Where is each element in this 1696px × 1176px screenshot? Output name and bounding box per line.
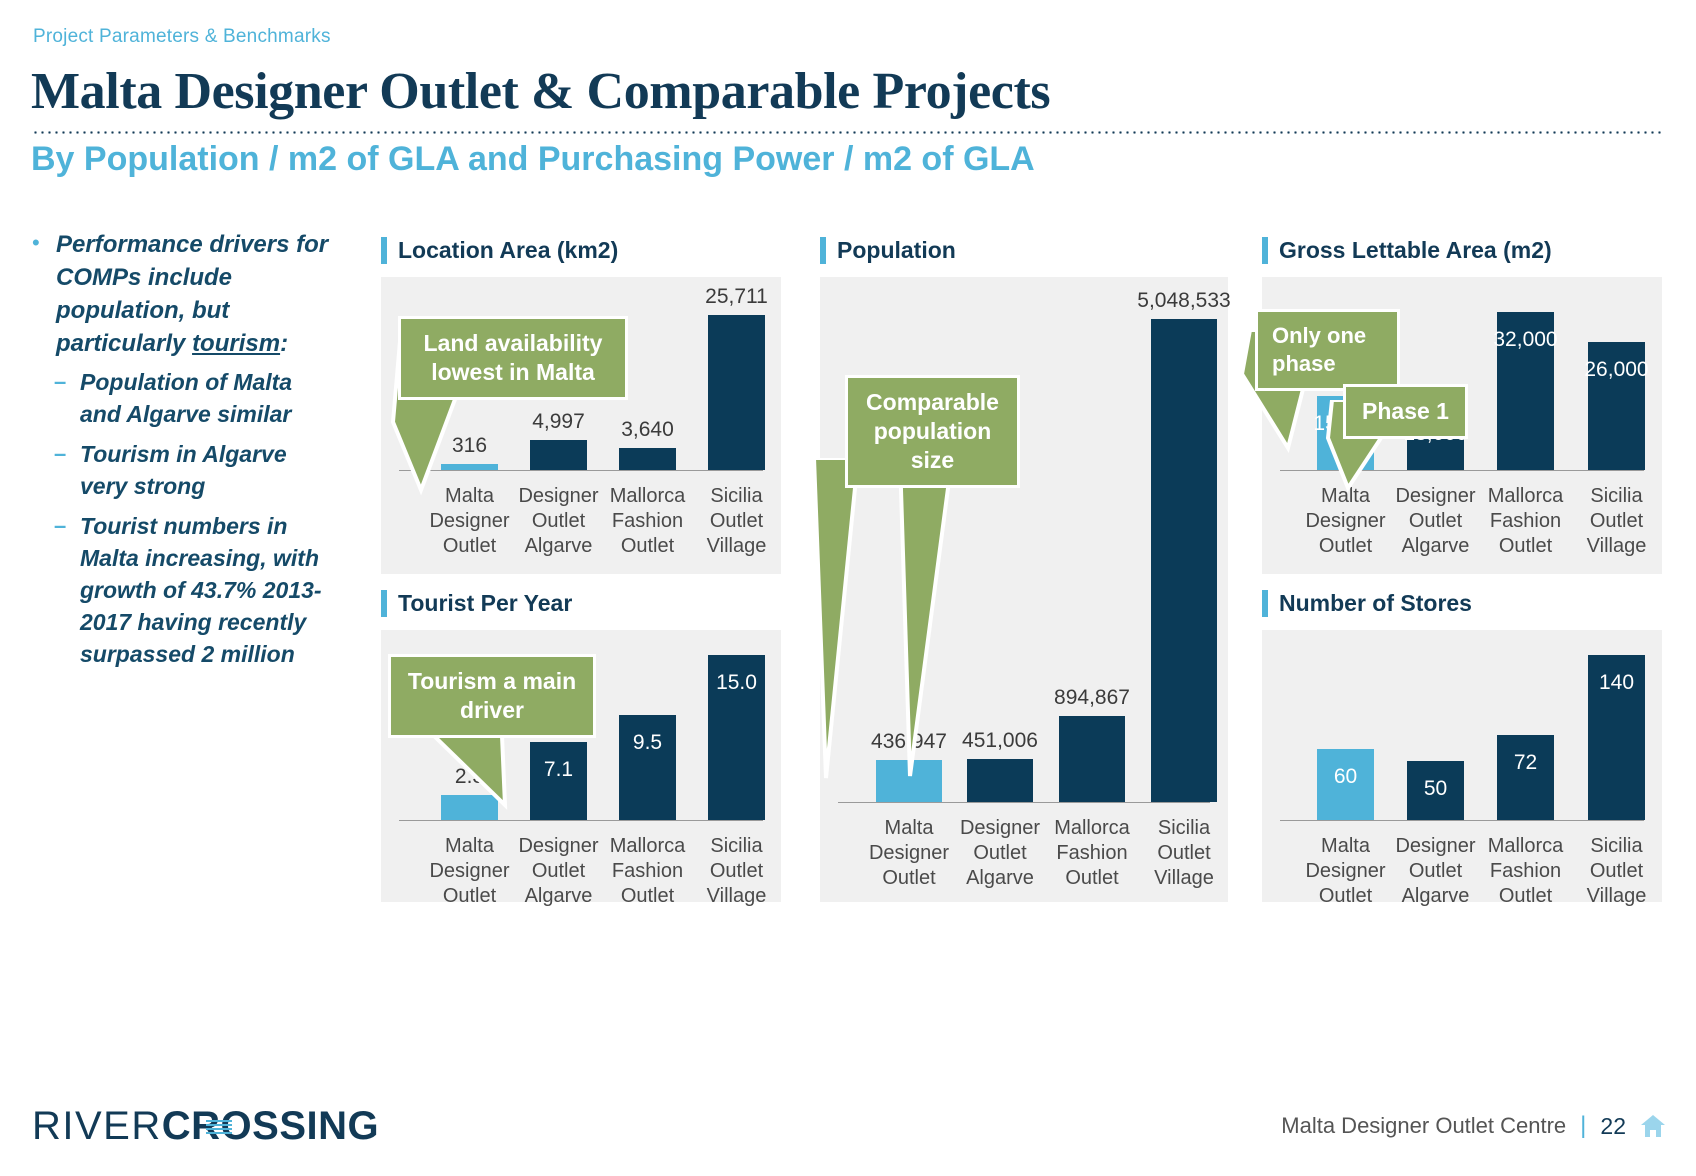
sub-bullet-text: Tourist numbers in Malta increasing, wit… xyxy=(80,510,332,670)
category-label-line: Sicilia xyxy=(686,484,787,509)
bar-value-label: 32,000 xyxy=(1483,328,1568,352)
category-label-line: Outlet xyxy=(1385,509,1486,534)
category-label-line: Outlet xyxy=(419,884,520,909)
accent-bar-icon xyxy=(1262,237,1268,264)
category-label-line: Village xyxy=(686,534,787,559)
chart-title: Tourist Per Year xyxy=(398,590,572,617)
category-label-line: Outlet xyxy=(597,534,698,559)
category-label-line: Designer xyxy=(1295,509,1396,534)
category-label-line: Malta xyxy=(419,834,520,859)
list-item: – Population of Malta and Algarve simila… xyxy=(54,366,332,430)
bar-value-label: 50 xyxy=(1393,777,1478,801)
category-label-line: Designer xyxy=(1385,834,1486,859)
category-label-line: Algarve xyxy=(508,534,609,559)
category-label: SiciliaOutletVillage xyxy=(686,484,787,559)
category-label-line: Designer xyxy=(508,834,609,859)
callout-tail-population xyxy=(800,458,1100,808)
dash-icon: – xyxy=(54,438,80,502)
category-label-line: Outlet xyxy=(1566,859,1667,884)
page-subtitle: By Population / m2 of GLA and Purchasing… xyxy=(31,140,1035,179)
category-label-line: Sicilia xyxy=(1566,484,1667,509)
category-label-line: Algarve xyxy=(1385,884,1486,909)
category-label: MallorcaFashionOutlet xyxy=(1475,484,1576,559)
category-label-line: Sicilia xyxy=(1566,834,1667,859)
category-label-line: Village xyxy=(1566,534,1667,559)
category-label-line: Designer xyxy=(419,859,520,884)
category-label-line: Mallorca xyxy=(1475,834,1576,859)
chart-header: Location Area (km2) xyxy=(381,235,781,265)
bar-value-label: 140 xyxy=(1574,671,1659,695)
category-label: MallorcaFashionOutlet xyxy=(597,834,698,909)
category-label-line: Algarve xyxy=(508,884,609,909)
footer-separator: | xyxy=(1580,1112,1586,1140)
category-label-line: Malta xyxy=(1295,834,1396,859)
chart-header: Tourist Per Year xyxy=(381,588,781,618)
chart-title: Location Area (km2) xyxy=(398,237,618,264)
category-label-line: Designer xyxy=(1295,859,1396,884)
category-label: MaltaDesignerOutlet xyxy=(419,834,520,909)
eyebrow-text: Project Parameters & Benchmarks xyxy=(33,26,331,48)
bar-value-label: 60 xyxy=(1303,765,1388,789)
category-label-line: Outlet xyxy=(686,509,787,534)
category-label: SiciliaOutletVillage xyxy=(1566,484,1667,559)
category-label-line: Outlet xyxy=(508,859,609,884)
category-label-line: Fashion xyxy=(597,859,698,884)
slide-root: Project Parameters & Benchmarks Malta De… xyxy=(0,0,1696,1176)
logo-crossing-text: CROSSING xyxy=(162,1104,379,1149)
chart-header: Number of Stores xyxy=(1262,588,1662,618)
bar xyxy=(1497,735,1554,820)
logo-crossing-label: CROSSING xyxy=(162,1104,379,1148)
category-label-line: Village xyxy=(686,884,787,909)
category-label-line: Village xyxy=(1129,866,1239,891)
accent-bar-icon xyxy=(381,590,387,617)
category-label: DesignerOutletAlgarve xyxy=(508,834,609,909)
category-label-line: Outlet xyxy=(1295,534,1396,559)
x-axis-line xyxy=(1280,820,1644,821)
category-label-line: Algarve xyxy=(1385,534,1486,559)
bar xyxy=(708,315,765,470)
category-label-line: Outlet xyxy=(597,884,698,909)
category-label-line: Outlet xyxy=(1385,859,1486,884)
chart-header: Population xyxy=(820,235,1228,265)
accent-bar-icon xyxy=(1262,590,1268,617)
home-icon[interactable] xyxy=(1640,1114,1666,1138)
chart-header: Gross Lettable Area (m2) xyxy=(1262,235,1662,265)
sidebar-notes: • Performance drivers for COMPs include … xyxy=(32,228,332,678)
category-label-line: Outlet xyxy=(1566,509,1667,534)
list-item: – Tourism in Algarve very strong xyxy=(54,438,332,502)
category-label: SiciliaOutletVillage xyxy=(1566,834,1667,909)
plot-area: 60MaltaDesignerOutlet50DesignerOutletAlg… xyxy=(1262,630,1662,902)
category-label-line: Fashion xyxy=(1475,509,1576,534)
category-label: SiciliaOutletVillage xyxy=(1129,816,1239,891)
accent-bar-icon xyxy=(381,237,387,264)
category-label-line: Outlet xyxy=(1295,884,1396,909)
sub-bullet-text: Tourism in Algarve very strong xyxy=(80,438,332,502)
footer-doc-name: Malta Designer Outlet Centre xyxy=(1281,1113,1566,1139)
category-label-line: Fashion xyxy=(597,509,698,534)
dash-icon: – xyxy=(54,366,80,430)
category-label: MallorcaFashionOutlet xyxy=(1475,834,1576,909)
list-item: – Tourist numbers in Malta increasing, w… xyxy=(54,510,332,670)
logo-river-text: RIVER xyxy=(32,1104,162,1149)
accent-bar-icon xyxy=(820,237,826,264)
callout-land-availability: Land availability lowest in Malta xyxy=(398,316,628,400)
callout-phase-1: Phase 1 xyxy=(1343,384,1468,439)
bar-value-label: 72 xyxy=(1483,751,1568,775)
bar-value-label: 15.0 xyxy=(694,671,779,695)
category-label-line: Designer xyxy=(419,509,520,534)
bar-value-label: 26,000 xyxy=(1574,358,1659,382)
category-label-line: Fashion xyxy=(1475,859,1576,884)
footer-page-number: 22 xyxy=(1600,1113,1626,1140)
callout-only-one-phase: Only one phase xyxy=(1255,309,1400,391)
category-label: SiciliaOutletVillage xyxy=(686,834,787,909)
category-label-line: Outlet xyxy=(1129,841,1239,866)
category-label-line: Sicilia xyxy=(686,834,787,859)
category-label-line: Outlet xyxy=(1475,534,1576,559)
category-label: MaltaDesignerOutlet xyxy=(1295,834,1396,909)
category-label-line: Sicilia xyxy=(1129,816,1239,841)
category-label-line: Mallorca xyxy=(597,834,698,859)
callout-comparable-population: Comparable population size xyxy=(845,375,1020,488)
dash-icon: – xyxy=(54,510,80,670)
category-label-line: Mallorca xyxy=(1475,484,1576,509)
bar xyxy=(1151,319,1217,802)
header-divider xyxy=(32,131,1663,134)
sub-bullet-list: – Population of Malta and Algarve simila… xyxy=(54,366,332,670)
bullet-main-underlined: tourism xyxy=(192,330,280,357)
bullet-main: • Performance drivers for COMPs include … xyxy=(32,228,332,360)
bullet-main-text: Performance drivers for COMPs include po… xyxy=(56,228,332,360)
chart-title: Population xyxy=(837,237,956,264)
chart-number-of-stores: Number of Stores 60MaltaDesignerOutlet50… xyxy=(1262,588,1662,902)
category-label-line: Outlet xyxy=(508,509,609,534)
x-axis-line xyxy=(399,820,763,821)
category-label: DesignerOutletAlgarve xyxy=(1385,834,1486,909)
bar-value-label: 5,048,533 xyxy=(1125,289,1243,313)
bar-value-label: 25,711 xyxy=(682,285,791,309)
chart-title: Gross Lettable Area (m2) xyxy=(1279,237,1552,264)
category-label-line: Outlet xyxy=(419,534,520,559)
category-label-line: Village xyxy=(1566,884,1667,909)
sub-bullet-text: Population of Malta and Algarve similar xyxy=(80,366,332,430)
chart-title: Number of Stores xyxy=(1279,590,1472,617)
callout-tourism-driver: Tourism a main driver xyxy=(388,654,596,738)
category-label-line: Outlet xyxy=(686,859,787,884)
bullet-main-part-b: : xyxy=(280,330,288,357)
company-logo: RIVER CROSSING xyxy=(32,1104,379,1149)
page-title: Malta Designer Outlet & Comparable Proje… xyxy=(31,62,1050,121)
category-label-line: Outlet xyxy=(1475,884,1576,909)
bullet-dot-icon: • xyxy=(32,228,56,360)
footer-meta: Malta Designer Outlet Centre | 22 xyxy=(1281,1112,1666,1140)
